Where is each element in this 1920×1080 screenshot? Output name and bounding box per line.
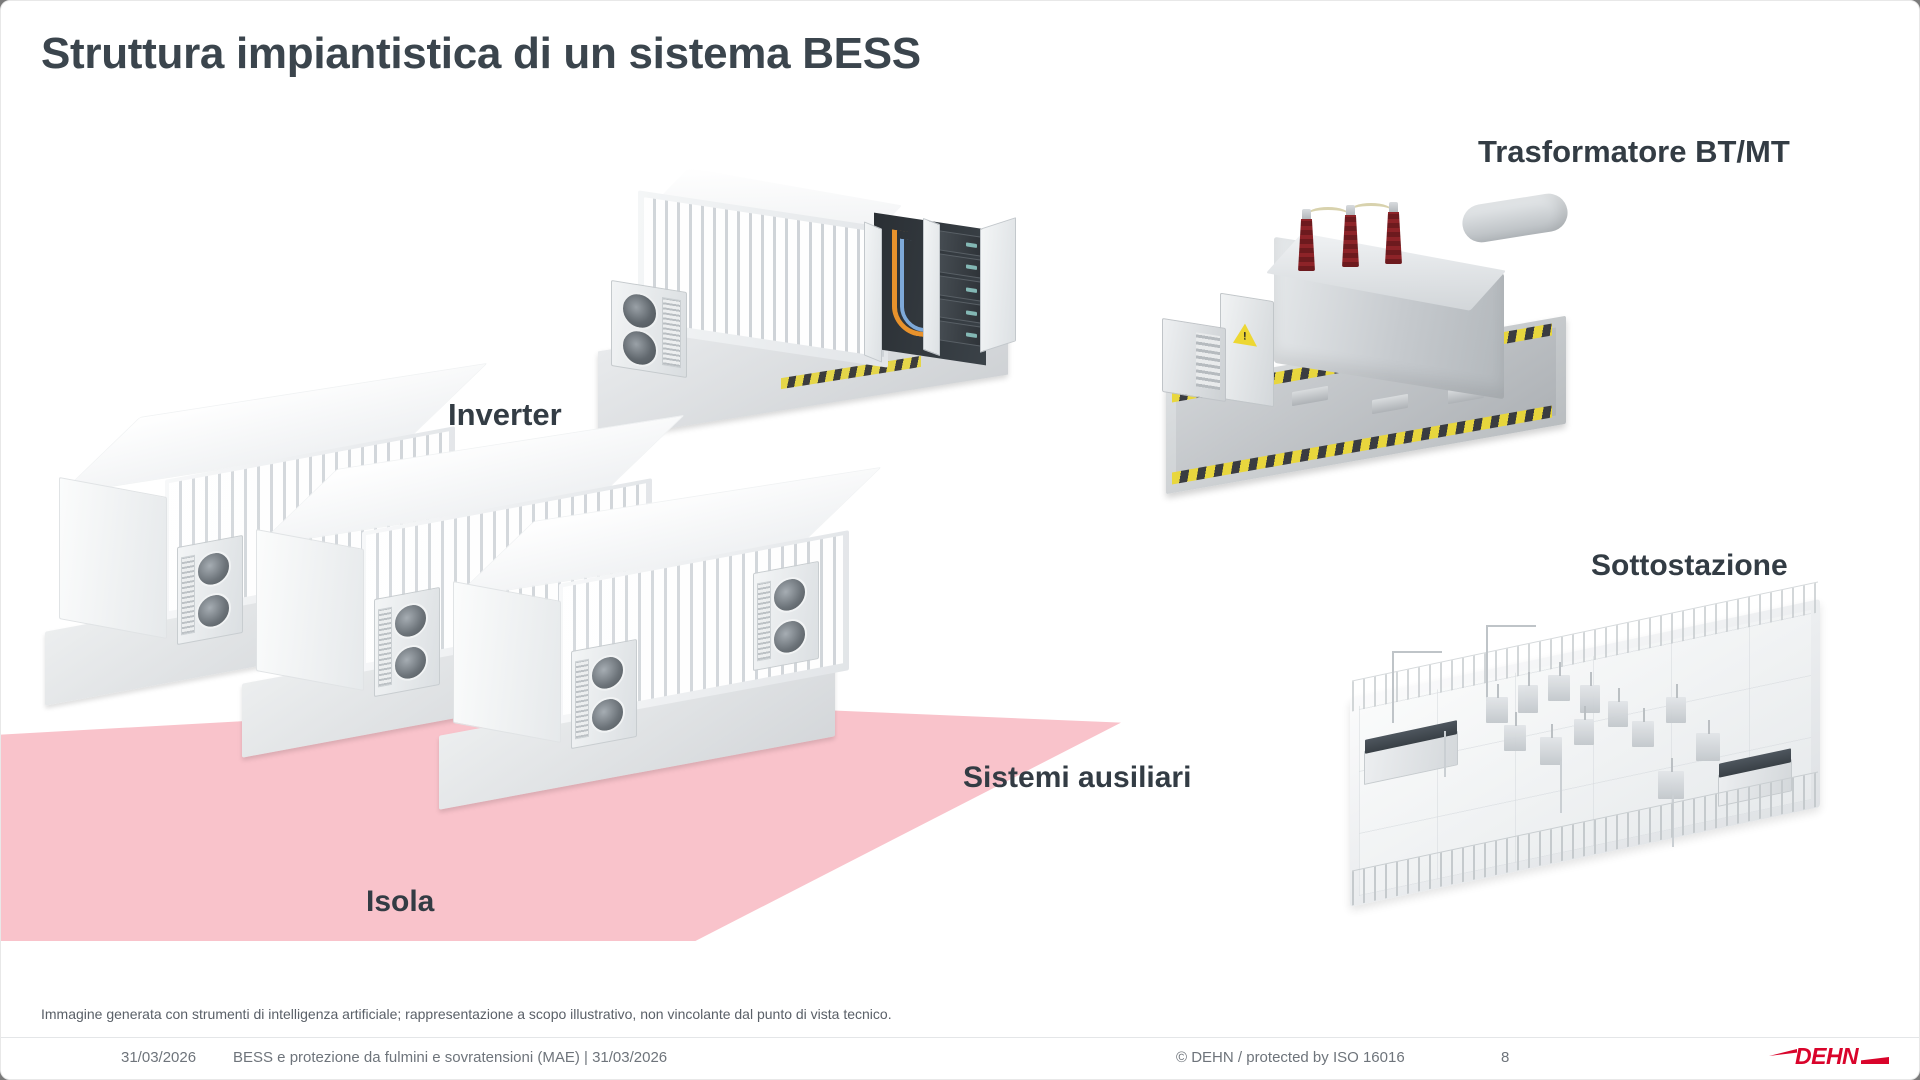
footer-page-number: 8 [1501,1049,1509,1066]
switchgear-unit [1580,685,1600,713]
hvac-fan [393,642,428,683]
hvac-fan [590,652,625,693]
switchgear-unit [1666,697,1686,723]
inverter-door-right [980,217,1016,353]
switchgear-unit [1518,685,1538,713]
switchgear-unit [1608,701,1628,727]
switchgear-unit [1548,675,1570,701]
transformer-illustration [1156,181,1586,471]
hvac-grill [181,555,195,636]
hvac-fan [621,290,658,333]
callout-label-sottostazione: Sottostazione [1591,549,1788,583]
hvac-fan [590,694,625,735]
bushing-insulator [1298,219,1315,271]
bushing-insulator [1342,215,1359,267]
bess-end-wall [59,477,167,639]
bess-hvac-unit [571,639,637,749]
switchgear-unit [1486,697,1508,723]
bess-hvac-unit [177,535,243,645]
bess-end-wall [256,529,364,691]
switchgear-unit [1632,721,1654,747]
bess-hvac-unit [374,587,440,697]
bess-hvac-unit-rear [753,561,819,671]
footer-date: 31/03/2026 [121,1049,196,1066]
substation-gantry [1486,625,1488,701]
switchgear-unit [1540,737,1562,765]
hvac-grill [757,581,771,662]
warning-triangle-icon [1233,322,1257,347]
hvac-grill [575,659,589,740]
footer-subject: BESS e protezione da fulmini e sovratens… [233,1049,667,1066]
lightning-bolt-icon-right [1861,1057,1889,1064]
hvac-grill [662,297,681,368]
presentation-slide: Struttura impiantistica di un sistema BE… [0,0,1920,1080]
substation-gantry [1392,651,1394,723]
switchgear-unit [1574,719,1594,745]
bess-end-wall [453,581,561,743]
callout-label-inverter: Inverter [448,397,562,433]
inverter-door-left [864,221,882,362]
bess-container-3 [453,583,853,783]
lightning-bolt-icon-left [1769,1049,1797,1056]
inverter-container-illustration [576,191,1016,421]
light-pole [1444,731,1446,777]
auxiliary-grill [1196,332,1220,390]
callout-label-trasformatore: Trasformatore BT/MT [1478,134,1790,170]
bushing-insulator [1385,212,1402,264]
substation-illustration [1336,589,1848,909]
hvac-fan [393,600,428,641]
inverter-door-middle [923,218,940,356]
page-title: Struttura impiantistica di un sistema BE… [41,29,921,79]
footer-copyright: © DEHN / protected by ISO 16016 [1176,1049,1405,1066]
substation-transformer-bay [1658,771,1684,799]
light-pole [1560,761,1562,813]
transformer-control-cabinet [1220,293,1274,408]
transformer-auxiliary-box [1162,318,1226,402]
hv-bushing [1298,209,1315,271]
callout-label-isola: Isola [366,885,434,919]
conservator-tank [1460,191,1571,245]
hvac-fan [772,574,807,615]
hv-bushing [1385,202,1402,264]
hvac-fan [772,616,807,657]
ai-image-disclaimer: Immagine generata con strumenti di intel… [41,1006,892,1022]
dehn-wordmark: DEHN [1795,1043,1858,1070]
hvac-grill [378,607,392,688]
hvac-fan [621,327,658,370]
inverter-hvac-unit [611,280,687,378]
hv-bushing [1342,205,1359,267]
substation-transformer-bay [1696,733,1720,761]
slide-footer: 31/03/2026 BESS e protezione da fulmini … [1,1045,1919,1080]
switchgear-unit [1504,725,1526,751]
callout-label-sistemi-ausiliari: Sistemi ausiliari [963,761,1191,795]
hvac-fan [196,548,231,589]
footer-divider [1,1037,1919,1038]
hvac-fan [196,590,231,631]
dehn-logo: DEHN [1769,1039,1887,1073]
